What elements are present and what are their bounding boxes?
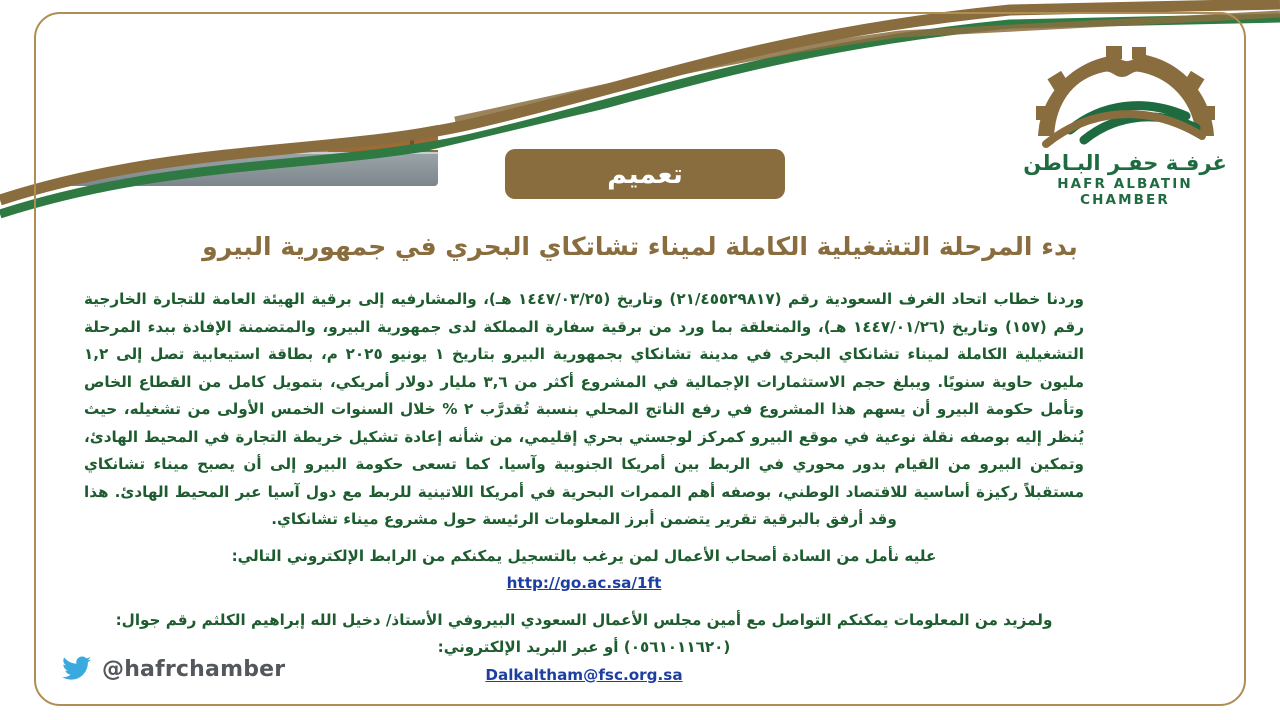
chamber-logo: غرفـة حفـر البـاطن HAFR ALBATIN CHAMBER [1010,44,1240,204]
logo-english-name: HAFR ALBATIN CHAMBER [1010,176,1240,208]
chamber-logo-mark [1010,44,1240,152]
contact-email-link[interactable]: Dalkaltham@fsc.org.sa [485,662,682,690]
announcement-page: غرفـة حفـر البـاطن HAFR ALBATIN CHAMBER … [0,0,1280,720]
circular-type-badge: تعميم [505,149,785,199]
registration-link-row: http://go.ac.sa/1ft [84,570,1084,598]
body-paragraph-3: ولمزيد من المعلومات يمكنكم التواصل مع أم… [84,607,1084,662]
body-paragraph-2: عليه نأمل من السادة أصحاب الأعمال لمن ير… [84,543,1084,571]
registration-link[interactable]: http://go.ac.sa/1ft [507,570,662,598]
logo-arabic-name: غرفـة حفـر البـاطن [1010,152,1240,174]
body-paragraph-1: وردنا خطاب اتحاد الغرف السعودية رقم (٢١/… [84,286,1084,534]
page-title: بدء المرحلة التشغيلية الكاملة لميناء تشا… [60,232,1220,261]
chamber-building-photo [0,0,470,200]
badge-label: تعميم [607,159,683,190]
twitter-bird-icon [62,656,92,682]
announcement-body: وردنا خطاب اتحاد الغرف السعودية رقم (٢١/… [84,286,1084,689]
twitter-handle: @hafrchamber [102,657,285,682]
twitter-account[interactable]: @hafrchamber [62,656,285,682]
